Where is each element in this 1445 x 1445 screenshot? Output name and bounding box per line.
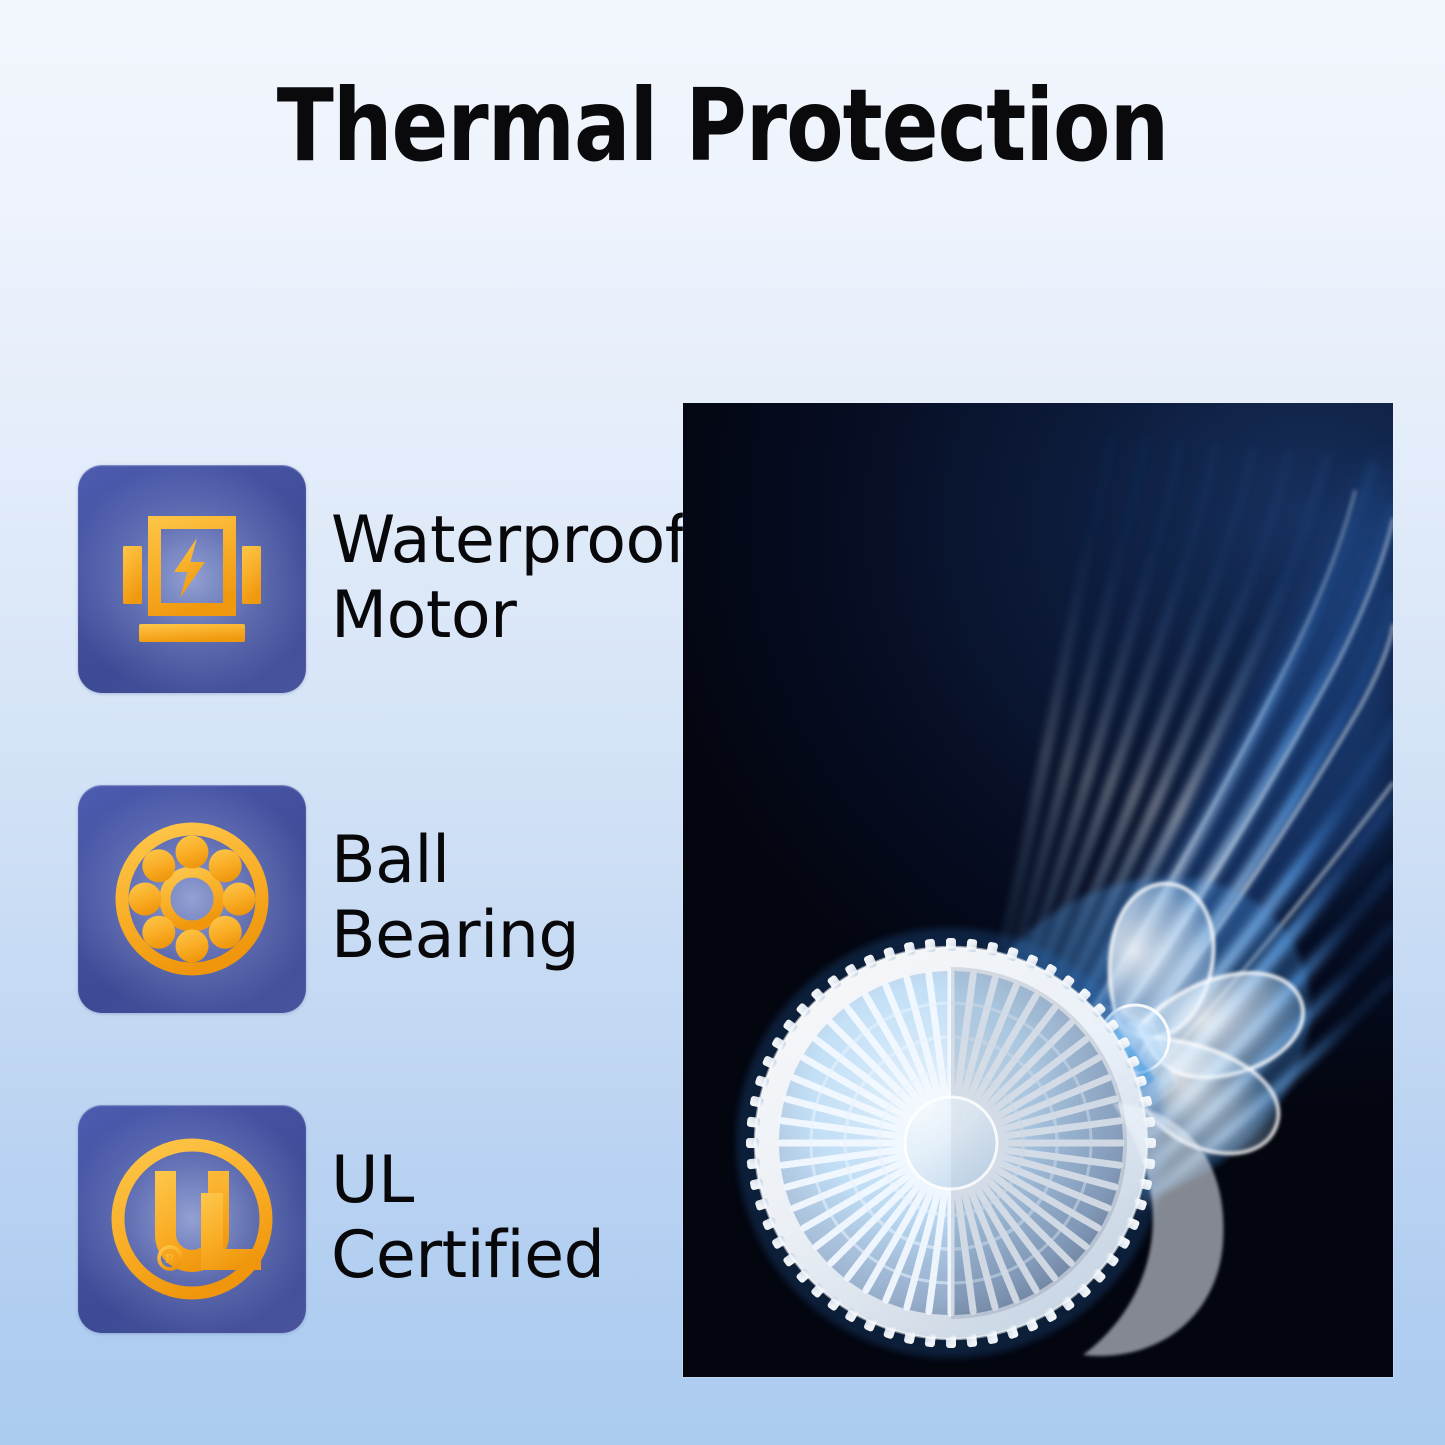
feature-list: Waterproof Motor	[78, 465, 678, 1333]
fan-grille	[736, 928, 1166, 1358]
svg-text:R: R	[165, 1252, 176, 1267]
feature-item-ul-certified: R UL Certified	[78, 1105, 678, 1333]
feature-label-line2: Bearing	[331, 900, 579, 973]
infographic-canvas: Thermal Protection	[0, 0, 1445, 1445]
feature-item-ball-bearing: Ball Bearing	[78, 785, 678, 1013]
fan-motor-assembly	[683, 403, 1393, 1377]
feature-label-line2: Motor	[331, 580, 687, 653]
ball-bearing-icon	[112, 819, 272, 979]
feature-label-line1: Waterproof	[331, 505, 687, 578]
product-photo	[683, 403, 1393, 1377]
feature-icon-tile	[78, 785, 306, 1013]
feature-label: Ball Bearing	[331, 785, 579, 1013]
feature-label: Waterproof Motor	[331, 465, 687, 693]
feature-icon-tile: R	[78, 1105, 306, 1333]
ul-certified-icon: R	[108, 1135, 276, 1303]
waterproof-motor-icon	[117, 508, 267, 650]
page-title: Thermal Protection	[51, 76, 1395, 176]
feature-label-line1: UL	[331, 1145, 604, 1218]
feature-label-line2: Certified	[331, 1220, 604, 1293]
feature-icon-tile	[78, 465, 306, 693]
feature-label-line1: Ball	[331, 825, 579, 898]
feature-item-waterproof-motor: Waterproof Motor	[78, 465, 678, 693]
feature-label: UL Certified	[331, 1105, 604, 1333]
